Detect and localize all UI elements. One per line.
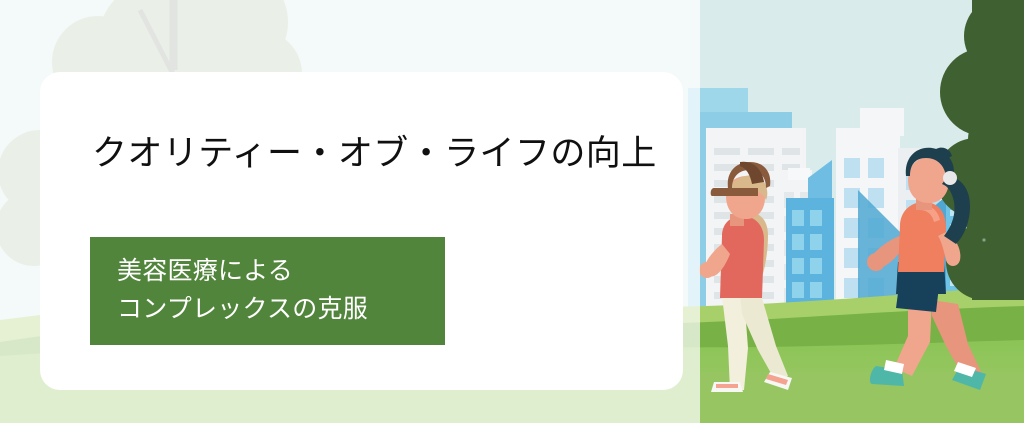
page-title: クオリティー・オブ・ライフの向上 bbox=[92, 134, 657, 174]
highlight-box: 美容医療による コンプレックスの克服 bbox=[90, 237, 445, 345]
promo-banner: クオリティー・オブ・ライフの向上 美容医療による コンプレックスの克服 bbox=[0, 0, 1024, 423]
content-card: クオリティー・オブ・ライフの向上 美容医療による コンプレックスの克服 bbox=[40, 72, 683, 390]
bird-speck bbox=[982, 238, 985, 241]
highlight-text: 美容医療による コンプレックスの克服 bbox=[117, 253, 368, 329]
